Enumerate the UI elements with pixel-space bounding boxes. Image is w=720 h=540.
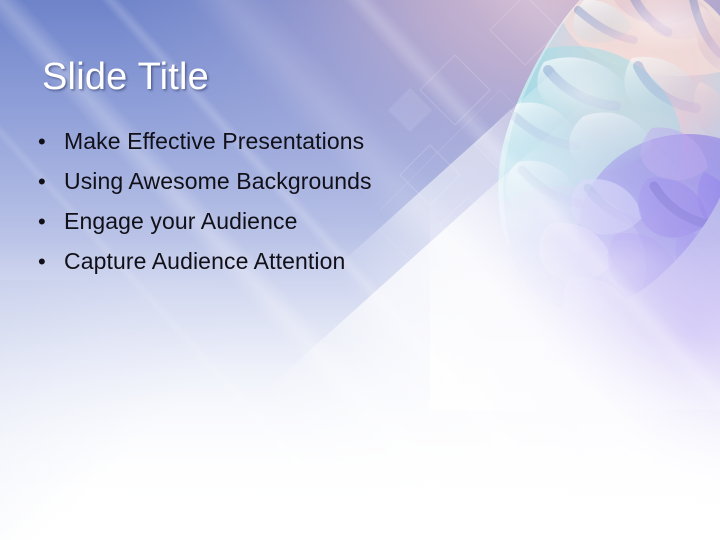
bullet-marker-icon: • (38, 211, 64, 233)
list-item[interactable]: • Engage your Audience (38, 208, 468, 248)
bullet-marker-icon: • (38, 171, 64, 193)
bullet-list: • Make Effective Presentations • Using A… (38, 128, 468, 288)
list-item[interactable]: • Make Effective Presentations (38, 128, 468, 168)
list-item-label: Capture Audience Attention (64, 248, 345, 275)
list-item-label: Make Effective Presentations (64, 128, 364, 155)
list-item-label: Using Awesome Backgrounds (64, 168, 372, 195)
list-item[interactable]: • Using Awesome Backgrounds (38, 168, 468, 208)
bullet-marker-icon: • (38, 131, 64, 153)
presentation-slide: Slide Title • Make Effective Presentatio… (0, 0, 720, 540)
list-item-label: Engage your Audience (64, 208, 297, 235)
list-item[interactable]: • Capture Audience Attention (38, 248, 468, 288)
page-title[interactable]: Slide Title (42, 56, 209, 99)
lower-left-shadow-wedge (0, 280, 240, 540)
bullet-marker-icon: • (38, 251, 64, 273)
